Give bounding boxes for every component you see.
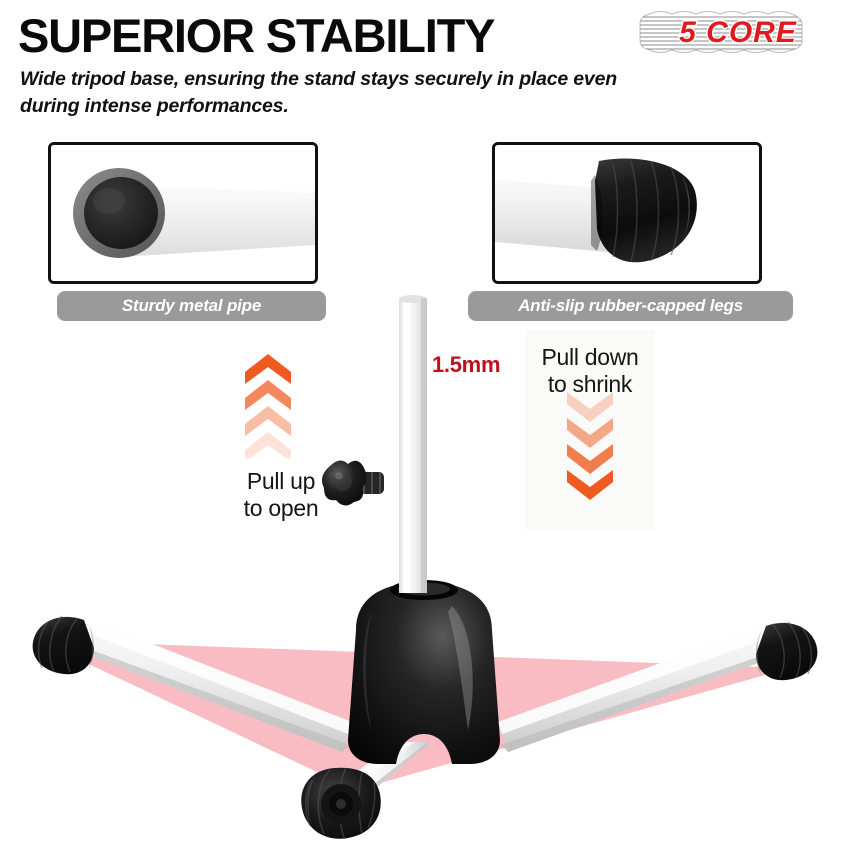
pull-up-label: Pull up to open [218, 468, 344, 522]
chevron-up-icon [243, 352, 293, 458]
brand-logo: 5 CORE [638, 8, 838, 56]
rubber-capped-leg-icon [495, 145, 759, 281]
feature-image-sturdy-metal-pipe [48, 142, 318, 284]
pull-up-chevrons [243, 352, 293, 458]
rubber-foot-front [301, 768, 381, 839]
tripod-illustration [0, 290, 850, 850]
product-infographic: SUPERIOR STABILITY Wide tripod base, ens… [0, 0, 850, 850]
rubber-foot-right [756, 622, 817, 680]
page-title: SUPERIOR STABILITY [18, 12, 494, 60]
page-subtitle: Wide tripod base, ensuring the stand sta… [20, 66, 620, 119]
thickness-badge: 1.5mm [432, 352, 500, 378]
tripod-stand-base-graphic [0, 290, 850, 850]
rubber-foot-left [33, 616, 94, 674]
feature-image-rubber-capped-legs [492, 142, 762, 284]
center-pipe [399, 295, 427, 593]
metal-pipe-cross-section-icon [51, 145, 315, 281]
pull-down-label: Pull down to shrink [524, 344, 656, 398]
brand-name-text: 5 CORE [679, 16, 797, 49]
five-core-logo-icon: 5 CORE [638, 8, 838, 56]
